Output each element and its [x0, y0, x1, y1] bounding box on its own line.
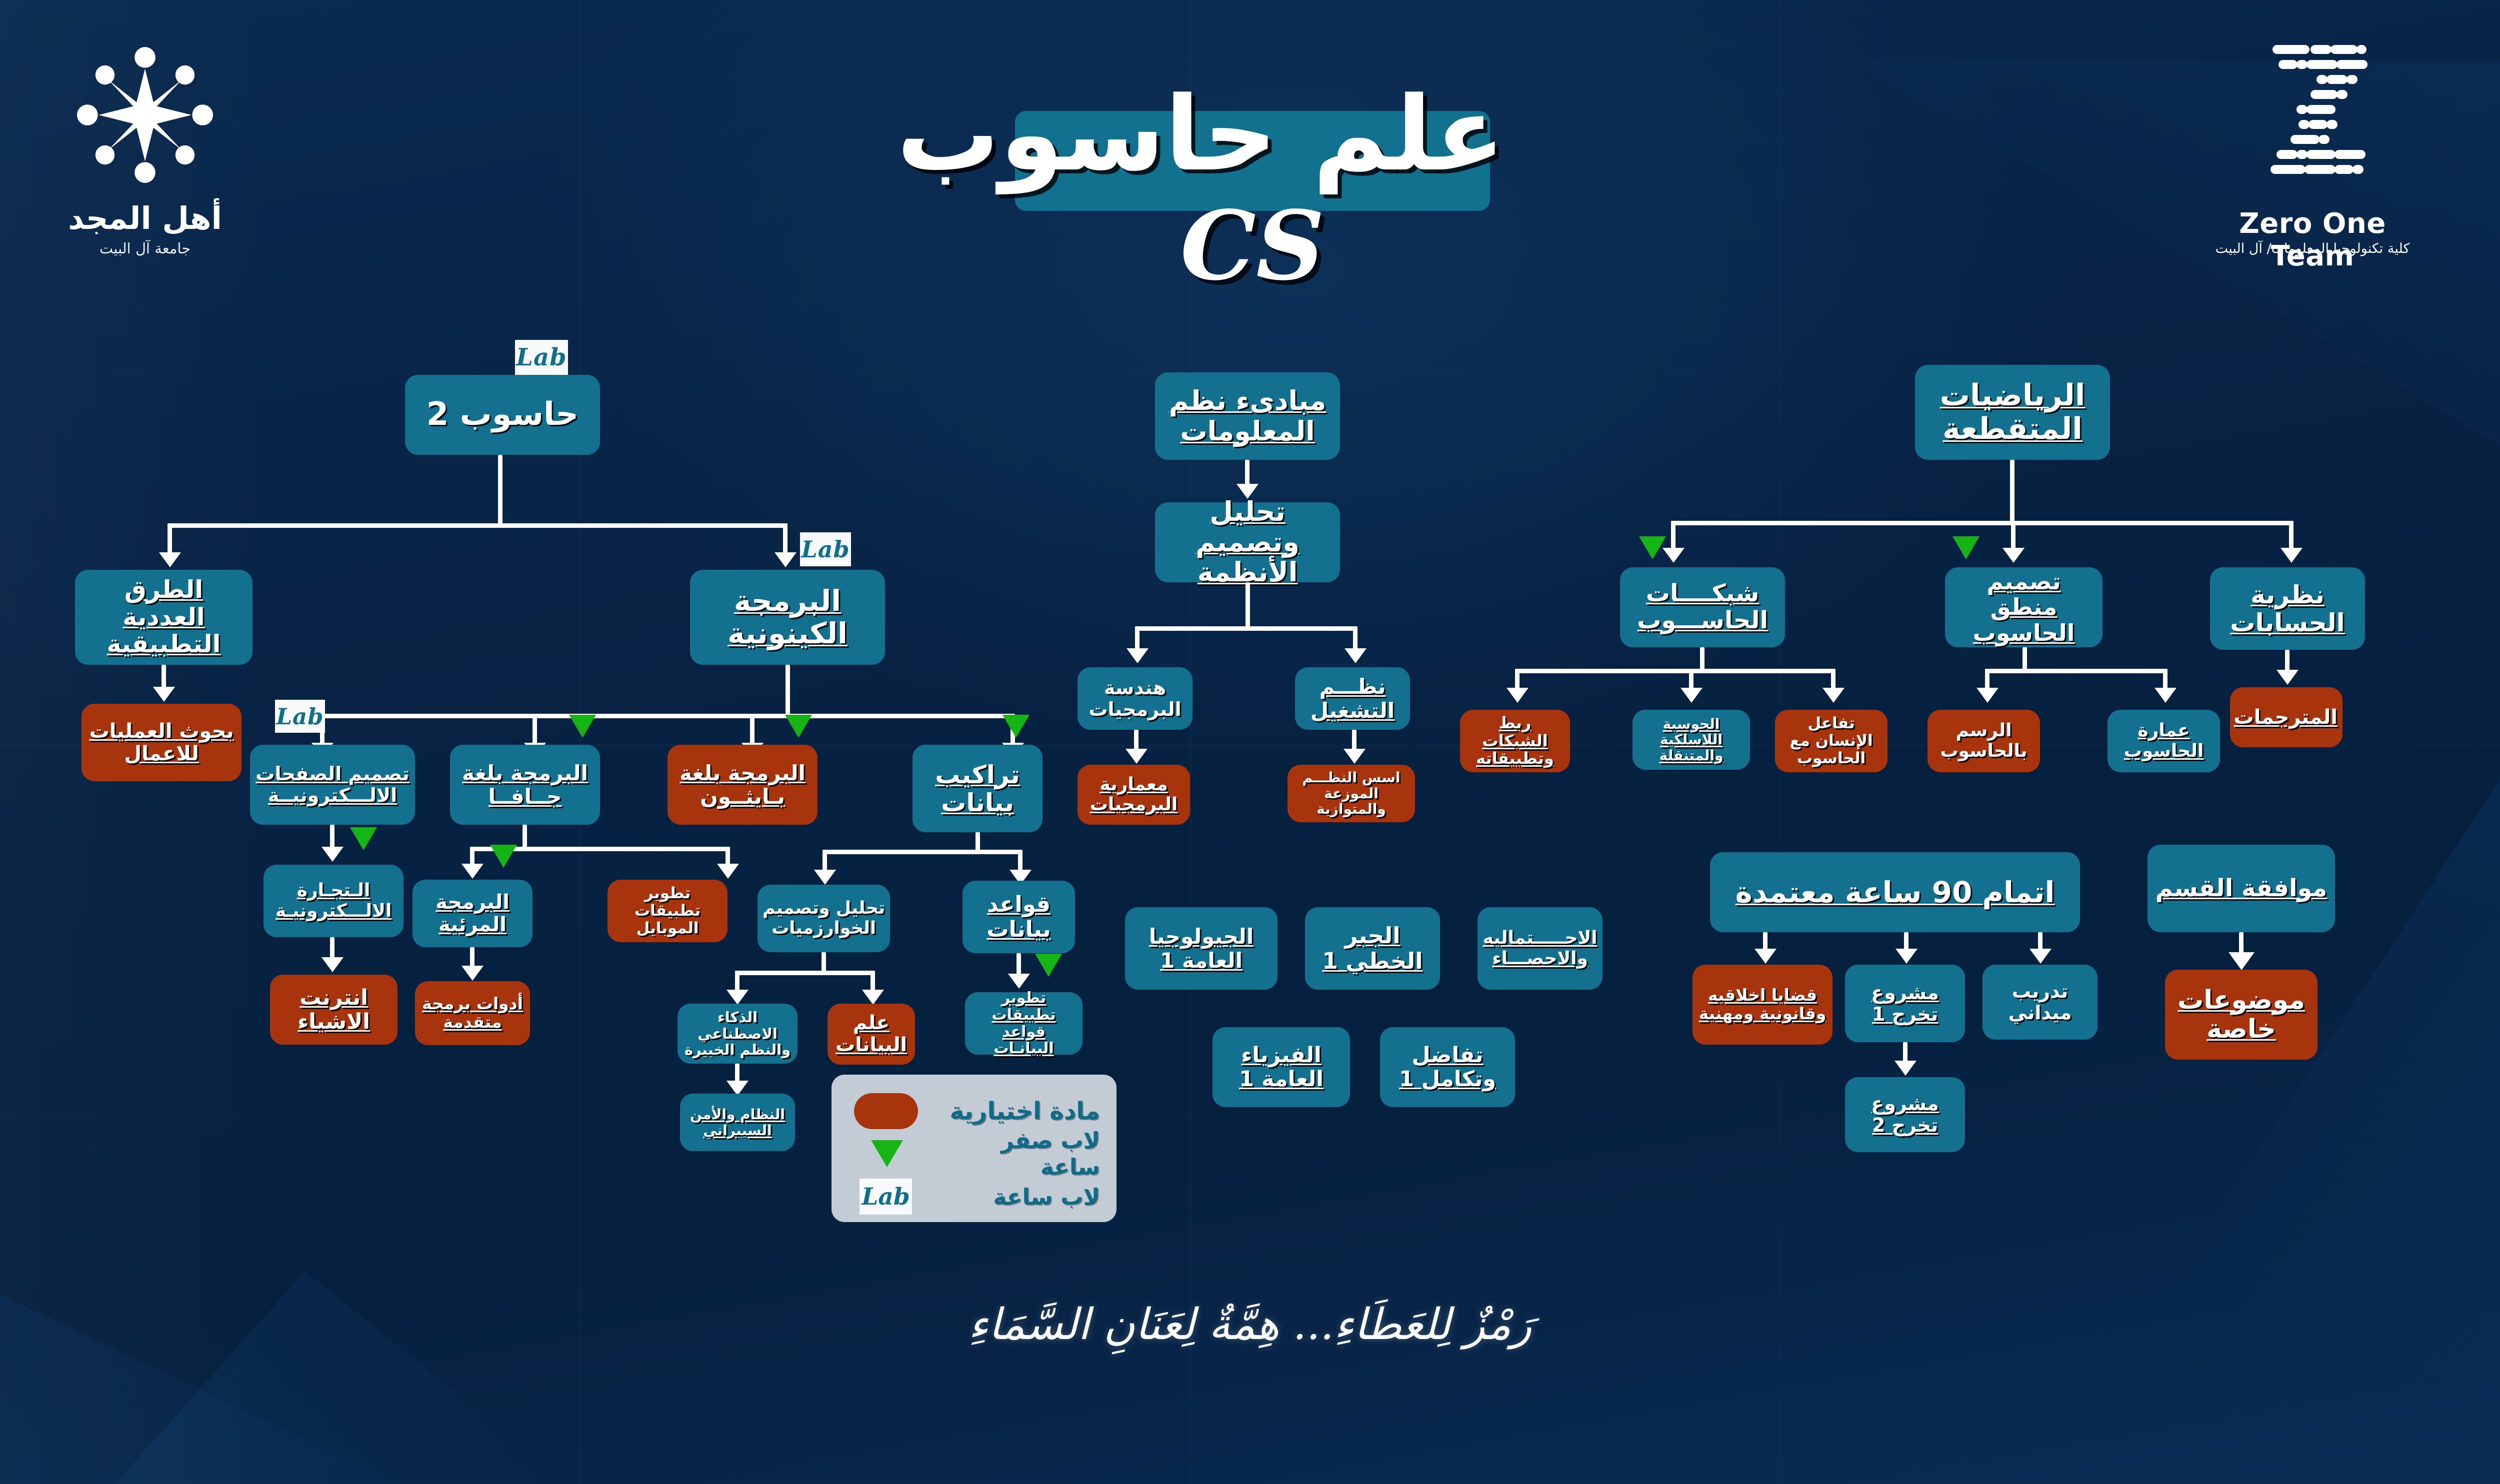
node-theory-of-computation[interactable]: نظرية الحسابات: [2210, 567, 2365, 650]
connector: [1515, 669, 1519, 690]
right-logo-sub: كلية تكنولوجيا المعلومات/ آل البيت: [2190, 241, 2435, 256]
node-label: الاحـــــتماليه والاحصـــاء: [1482, 928, 1597, 969]
tagline: رَمْزٌ لِلعَطَاءِ... هِمَّةٌ لِعَنَانِ ا…: [0, 1300, 2500, 1350]
elective-swatch: [854, 1093, 918, 1129]
arrow-icon: [1680, 688, 1702, 703]
node-label: مشروع تخرج 1: [1850, 982, 1960, 1025]
legend-green-triangle-icon: [871, 1140, 903, 1167]
green-triangle-icon: [569, 715, 596, 738]
node-ethics[interactable]: قضايا اخلاقيه وقانونية ومهنية: [1692, 965, 1832, 1045]
arrow-icon: [153, 687, 175, 702]
bg-polygon: [1780, 60, 2500, 610]
arrow-icon: [1008, 974, 1030, 989]
green-triangle-icon: [350, 827, 377, 850]
node-label: تحليل وتصميم الخوارزميات: [762, 899, 885, 938]
arrow-icon: [862, 990, 884, 1005]
legend-row-lab-zero: لاب صفر ساعة: [850, 1136, 1100, 1172]
arrow-icon: [1822, 688, 1844, 703]
node-department-approval[interactable]: موافقة القسم: [2147, 845, 2335, 932]
arrow-icon: [1344, 648, 1366, 663]
arrow-icon: [461, 966, 483, 981]
node-label: نظـــم التشغيل: [1300, 675, 1405, 722]
zero-one-team-logo-icon: [2235, 35, 2385, 190]
node-iot[interactable]: انترنت الاشياء: [270, 975, 397, 1045]
connector: [783, 523, 787, 554]
arrow-icon: [321, 957, 343, 972]
connector: [1245, 582, 1250, 630]
node-label: الذكاء الاصطناعي والنظم الخبيرة: [682, 1009, 792, 1058]
arrow-icon: [1506, 688, 1528, 703]
green-triangle-icon: [1035, 954, 1062, 977]
arrow-icon: [159, 552, 181, 567]
arrow-icon: [2280, 548, 2302, 563]
node-python[interactable]: البرمجة بلغة بـايثــون: [667, 745, 817, 825]
connector: [822, 850, 827, 872]
node-label: تدريب ميداني: [1987, 981, 2092, 1023]
lab-badge: Lab: [275, 700, 325, 733]
node-ecommerce[interactable]: الـتجـارة الالـــكترونيـة: [263, 865, 403, 937]
node-geology[interactable]: الجيولوجيا العامة 1: [1125, 907, 1277, 990]
node-label: بحوث العمليات للاعمال: [86, 720, 236, 765]
node-cybersecurity[interactable]: النظام والأمن السيبراني: [680, 1094, 795, 1151]
node-software-engineering[interactable]: هندسة البرمجيات: [1077, 667, 1192, 730]
node-probability-statistics[interactable]: الاحـــــتماليه والاحصـــاء: [1477, 907, 1602, 990]
arrow-icon: [2002, 548, 2024, 563]
node-label: ربط الشبكات وتطبيقاته: [1465, 714, 1565, 768]
connector: [1831, 669, 1835, 690]
node-software-architecture[interactable]: معمارية البرمجيات: [1077, 765, 1190, 825]
node-wireless-computing[interactable]: الحوسبة اللاسلكية والمتنقلة: [1632, 710, 1750, 770]
arrow-icon: [2276, 670, 2298, 685]
node-label: هندسة البرمجيات: [1082, 677, 1187, 720]
page-title-en: CS: [1000, 190, 1505, 301]
node-label: تطوير تطبيقات قواعد البيانـات: [970, 990, 1077, 1057]
legend-lab-zero-label: لاب صفر ساعة: [935, 1127, 1100, 1180]
node-label: تصميم الصفحات الالـــكترونيــة: [255, 763, 410, 806]
node-oop[interactable]: البرمجة الكينونية: [690, 570, 885, 665]
connector: [1018, 850, 1022, 872]
node-label: معمارية البرمجيات: [1082, 775, 1185, 815]
node-operations-research[interactable]: بحوث العمليات للاعمال: [81, 704, 241, 781]
node-label: مبادىء نظم المعلومات: [1160, 386, 1335, 446]
right-logo-name: Zero One Team: [2210, 207, 2415, 272]
node-label: الـتجـارة الالـــكترونيـة: [268, 881, 398, 921]
legend-elective-label: مادة اختيارية: [935, 1097, 1100, 1125]
node-compilers[interactable]: المترجمات: [2230, 687, 2342, 747]
curriculum-infographic: علم حاسوب CS أهل المجد جامعة آل البيت: [0, 0, 2500, 1484]
green-triangle-icon: [1002, 715, 1029, 738]
green-triangle-icon: [1639, 536, 1666, 559]
node-computer-networks[interactable]: شبكــــات الحاســـوب: [1620, 567, 1785, 647]
node-special-topics[interactable]: موضوعات خاصة: [2165, 970, 2317, 1060]
arrow-icon: [1895, 949, 1917, 964]
connector: [1985, 669, 1989, 690]
connector: [498, 455, 502, 527]
connector: [532, 714, 537, 745]
connector: [1689, 669, 1693, 690]
node-field-training[interactable]: تدريب ميداني: [1982, 965, 2097, 1040]
connector: [1515, 669, 1835, 673]
arrow-icon: [726, 990, 748, 1005]
connector: [735, 971, 739, 992]
node-label: الطرق العددية التطبيقية: [80, 576, 247, 659]
node-label: تراكيب بيانات: [917, 761, 1037, 817]
node-label: قضايا اخلاقيه وقانونية ومهنية: [1697, 986, 1827, 1023]
node-label: البرمجة الكينونية: [695, 585, 880, 650]
node-label: البرمجة بلغة جــافــا: [455, 761, 595, 808]
node-discrete-math[interactable]: الرياضيات المتقطعة: [1915, 365, 2110, 460]
connector: [2011, 521, 2015, 550]
node-graduation-project-1[interactable]: مشروع تخرج 1: [1845, 965, 1965, 1042]
node-algorithms[interactable]: تحليل وتصميم الخوارزميات: [757, 885, 890, 952]
connector: [1135, 626, 1139, 650]
node-network-applications[interactable]: ربط الشبكات وتطبيقاته: [1460, 710, 1570, 772]
node-label: النظام والأمن السيبراني: [685, 1107, 790, 1138]
left-logo-name: أهل المجد: [60, 200, 230, 236]
connector: [320, 714, 1015, 718]
arrow-icon: [814, 870, 836, 885]
connector: [2010, 460, 2014, 525]
node-label: تصميم منطق الحاسوب: [1950, 569, 2097, 646]
connector: [1135, 626, 1357, 631]
connector: [785, 665, 790, 717]
connector: [822, 850, 1022, 854]
legend-lab-hour-label: لاب ساعة: [935, 1184, 1100, 1210]
node-label: الرسم بالحاسوب: [1932, 721, 2035, 761]
arrow-icon: [2228, 952, 2254, 970]
bg-gridline: [0, 1117, 2500, 1118]
node-label: تفاعل الإنسان مع الحاسوب: [1780, 715, 1882, 767]
connector: [1671, 521, 2293, 525]
node-label: اتمام 90 ساعة معتمدة: [1715, 876, 2075, 909]
connector: [2163, 669, 2167, 690]
node-mobile-development[interactable]: تطوير تطبيقات الموبايل: [607, 880, 727, 942]
node-visual-programming[interactable]: البرمجة المرئية: [412, 880, 532, 947]
node-label: الحوسبة اللاسلكية والمتنقلة: [1637, 716, 1745, 763]
node-mis-principles[interactable]: مبادىء نظم المعلومات: [1155, 372, 1340, 460]
connector: [870, 971, 875, 992]
node-calculus[interactable]: تفاضل وتكامل 1: [1380, 1027, 1515, 1107]
node-label: الجبر الخطي 1: [1310, 923, 1435, 974]
connector: [2289, 521, 2293, 550]
green-triangle-icon: [785, 715, 812, 738]
node-label: اسس النظـــم الموزعة والمتوازية: [1292, 770, 1410, 817]
node-hasoub2[interactable]: حاسوب 2: [405, 375, 600, 455]
node-web-design[interactable]: تصميم الصفحات الالـــكترونيــة: [250, 745, 415, 825]
node-label: البرمجة المرئية: [417, 891, 527, 936]
connector: [2022, 647, 2027, 671]
arrow-icon: [1343, 749, 1365, 764]
legend-row-lab-hour: لاب ساعة Lab: [850, 1179, 1100, 1215]
node-label: علم البيانات: [832, 1012, 910, 1056]
arrow-icon: [321, 847, 343, 862]
bg-gridline: [580, 0, 581, 1484]
node-label: المترجمات: [2235, 706, 2337, 729]
lab-badge: Lab: [800, 532, 851, 566]
green-triangle-icon: [490, 845, 517, 868]
node-data-science[interactable]: علم البيانات: [827, 1004, 915, 1065]
node-computer-architecture[interactable]: عمارة الحاسوب: [2107, 710, 2220, 772]
node-label: مشروع تخرج 2: [1850, 1093, 1960, 1136]
node-label: نظرية الحسابات: [2215, 581, 2360, 637]
node-distributed-systems[interactable]: اسس النظـــم الموزعة والمتوازية: [1287, 765, 1415, 822]
arrow-icon: [1126, 648, 1148, 663]
node-numeric-methods[interactable]: الطرق العددية التطبيقية: [75, 570, 252, 665]
node-label: البرمجة بلغة بـايثــون: [672, 761, 812, 808]
node-physics[interactable]: الفيزياء العامة 1: [1212, 1027, 1350, 1107]
connector: [1985, 669, 2167, 673]
arrow-icon: [1894, 1061, 1916, 1076]
node-ai-expert-systems[interactable]: الذكاء الاصطناعي والنظم الخبيرة: [677, 1004, 797, 1064]
ahl-almajd-logo-icon: [65, 35, 225, 195]
node-advanced-tools[interactable]: أدوات برمجة متقدمة: [415, 981, 530, 1045]
node-90-credit-hours[interactable]: اتمام 90 ساعة معتمدة: [1710, 852, 2080, 932]
node-label: الجيولوجيا العامة 1: [1130, 925, 1272, 972]
connector: [975, 832, 980, 852]
page-title: علم حاسوب: [1000, 75, 1505, 194]
connector: [821, 952, 826, 973]
node-java[interactable]: البرمجة بلغة جــافــا: [450, 745, 600, 825]
node-label: موافقة القسم: [2152, 875, 2330, 902]
legend-lab-badge: Lab: [859, 1179, 912, 1215]
arrow-icon: [2029, 949, 2051, 964]
node-label: تفاضل وتكامل 1: [1385, 1043, 1510, 1091]
node-label: انترنت الاشياء: [275, 986, 392, 1034]
lab-badge: Lab: [515, 340, 568, 375]
arrow-icon: [1125, 749, 1147, 764]
node-data-structures[interactable]: تراكيب بيانات: [912, 745, 1042, 832]
arrow-icon: [774, 552, 796, 567]
node-systems-analysis[interactable]: تحليل وتصميم الأنظمة: [1155, 502, 1340, 582]
connector: [1700, 647, 1704, 671]
arrow-icon: [2154, 688, 2176, 703]
connector: [1245, 460, 1249, 487]
arrow-icon: [717, 864, 739, 879]
node-db-applications[interactable]: تطوير تطبيقات قواعد البيانـات: [965, 992, 1082, 1055]
connector: [167, 523, 172, 554]
connector: [167, 523, 787, 528]
node-label: تطوير تطبيقات الموبايل: [612, 885, 722, 937]
arrow-icon: [1976, 688, 1998, 703]
node-databases[interactable]: قواعد بيانات: [962, 881, 1075, 953]
legend-row-elective: مادة اختيارية: [850, 1092, 1100, 1130]
green-triangle-icon: [1952, 536, 1979, 559]
node-label: تحليل وتصميم الأنظمة: [1160, 497, 1335, 587]
node-computer-graphics[interactable]: الرسم بالحاسوب: [1927, 710, 2040, 772]
node-label: قواعد بيانات: [967, 892, 1070, 942]
left-logo-sub: جامعة آل البيت: [60, 240, 230, 257]
arrow-icon: [1754, 949, 1776, 964]
node-operating-systems[interactable]: نظـــم التشغيل: [1295, 667, 1410, 730]
connector: [750, 714, 754, 745]
node-label: أدوات برمجة متقدمة: [420, 995, 525, 1032]
node-label: موضوعات خاصة: [2170, 986, 2312, 1044]
node-label: عمارة الحاسوب: [2112, 721, 2215, 761]
node-label: الرياضيات المتقطعة: [1920, 379, 2105, 446]
node-linear-algebra[interactable]: الجبر الخطي 1: [1305, 907, 1440, 990]
connector: [1671, 521, 1675, 550]
node-hci[interactable]: تفاعل الإنسان مع الحاسوب: [1775, 710, 1887, 772]
connector: [735, 971, 875, 975]
arrow-icon: [461, 864, 483, 879]
node-graduation-project-2[interactable]: مشروع تخرج 2: [1845, 1077, 1965, 1152]
connector: [1353, 626, 1357, 650]
node-label: حاسوب 2: [410, 397, 595, 433]
node-logic-design[interactable]: تصميم منطق الحاسوب: [1945, 567, 2102, 647]
node-label: شبكــــات الحاســـوب: [1625, 580, 1780, 634]
node-label: الفيزياء العامة 1: [1217, 1043, 1345, 1091]
